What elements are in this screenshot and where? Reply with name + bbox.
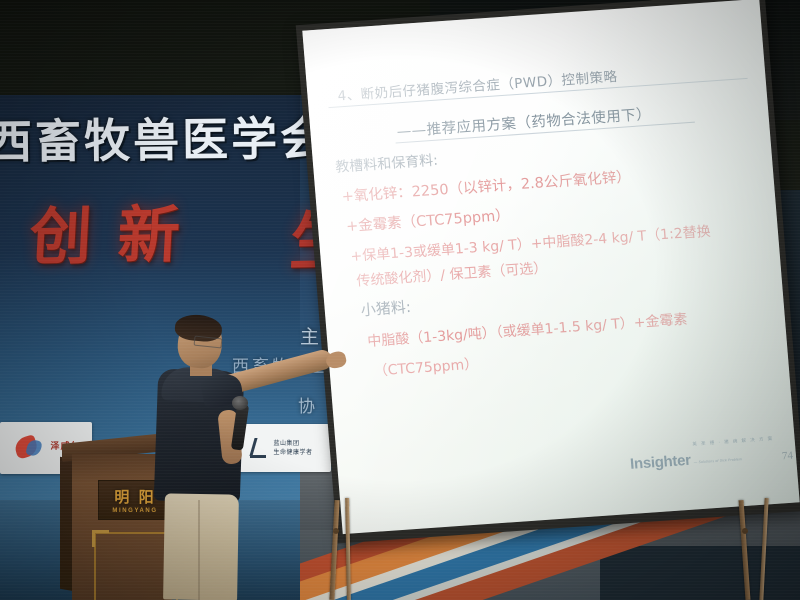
- slide-footer: Insighter 英 圣 德 · 猪 病 解 决 方 案 — Solution…: [628, 426, 794, 473]
- slide-line-mct: 中脂酸（1-3kg/吨）（或缓单1-1.5 kg/ T）+金霉素: [367, 309, 689, 351]
- slide-subtitle: ——推荐应用方案（药物合法使用下）: [396, 103, 652, 142]
- slide-line-ctc-2: （CTC75ppm）: [373, 353, 479, 380]
- slide-line-ctc-1: +金霉素（CTC75ppm）: [345, 204, 510, 236]
- podium-gold-corner-ornament: [92, 530, 109, 547]
- speaker-trousers: [163, 493, 239, 600]
- slide-paper-wrapper: 4、断奶后仔猪腹泻综合症（PWD）控制策略 ——推荐应用方案（药物合法使用下） …: [300, 0, 800, 600]
- swoosh-logo-icon: [11, 435, 47, 461]
- slide-line-section-2: 小猪料:: [360, 296, 412, 320]
- slide-title: 4、断奶后仔猪腹泻综合症（PWD）控制策略: [337, 65, 618, 105]
- presentation-photo-scene: 西畜牧兽医学会动 创新 生 主 西畜牧兽医学会 协 201 泽威尔 蓝山集团 生…: [0, 0, 800, 600]
- microphone-head-icon: [232, 396, 248, 410]
- insighter-tagline: 英 圣 德 · 猪 病 解 决 方 案 — Solutions of Sick …: [691, 427, 775, 469]
- slide-line-section-1: 教槽料和保育料:: [335, 150, 439, 177]
- banner-slogan-left: 创新: [28, 183, 209, 276]
- slide-content: 4、断奶后仔猪腹泻综合症（PWD）控制策略 ——推荐应用方案（药物合法使用下） …: [302, 0, 799, 534]
- insighter-tagline-cn: 英 圣 德 · 猪 病 解 决 方 案: [692, 437, 774, 448]
- speaker-trouser-crease: [198, 500, 200, 600]
- slide-page-number: 74: [782, 450, 794, 463]
- easel-bolt-right: [742, 528, 748, 534]
- insighter-logo: Insighter: [629, 452, 691, 473]
- speaker-person: [150, 318, 340, 600]
- insighter-tagline-en: — Solutions of Sick Problem: [694, 457, 743, 464]
- projected-slide: 4、断奶后仔猪腹泻综合症（PWD）控制策略 ——推荐应用方案（药物合法使用下） …: [302, 0, 799, 534]
